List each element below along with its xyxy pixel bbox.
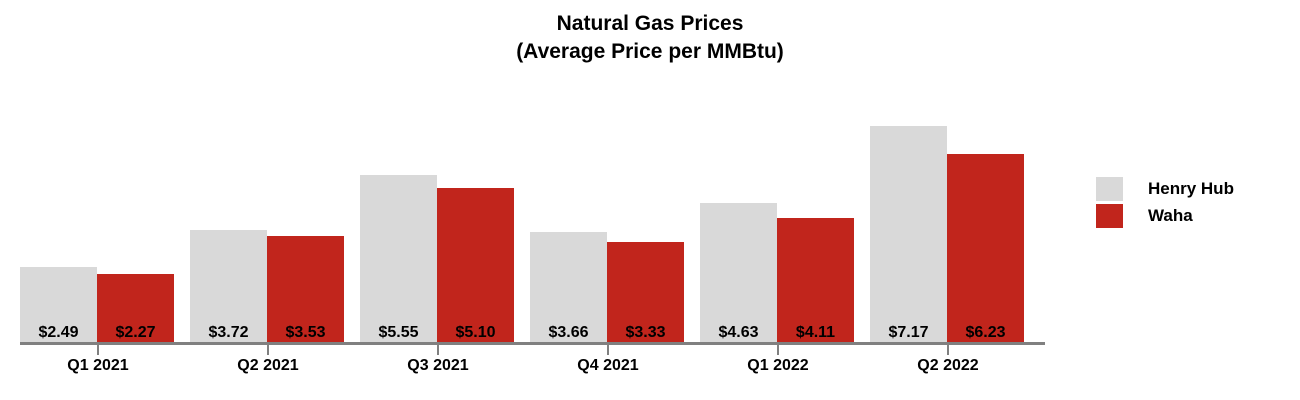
bar-group: $2.49 $2.27 <box>20 95 190 342</box>
tick-cell <box>700 345 870 357</box>
bar-value-label: $3.53 <box>255 324 356 342</box>
bar-value-label: $3.33 <box>595 324 696 342</box>
tick-mark <box>97 345 99 355</box>
tick-mark <box>947 345 949 355</box>
bar-group: $4.63 $4.11 <box>700 95 870 342</box>
tick-cell <box>530 345 700 357</box>
bar-wrap-henry-hub: $7.17 <box>870 95 947 342</box>
legend-swatch-icon <box>1096 204 1123 228</box>
category-label: Q1 2022 <box>747 357 808 375</box>
bar-value-label: $5.10 <box>425 324 526 342</box>
tick-mark <box>607 345 609 355</box>
axis-ticks <box>20 345 1040 357</box>
category-cell: Q2 2021 <box>190 357 360 381</box>
category-label: Q1 2021 <box>67 357 128 375</box>
bar-value-label: $4.11 <box>765 324 866 342</box>
bar-chart: Natural Gas Prices (Average Price per MM… <box>0 0 1300 400</box>
category-cell: Q2 2022 <box>870 357 1040 381</box>
bar-wrap-henry-hub: $3.66 <box>530 95 607 342</box>
bar-group: $7.17 $6.23 <box>870 95 1040 342</box>
bar-wrap-henry-hub: $5.55 <box>360 95 437 342</box>
bar-group: $5.55 $5.10 <box>360 95 530 342</box>
tick-cell <box>20 345 190 357</box>
bar-wrap-henry-hub: $2.49 <box>20 95 97 342</box>
bar-wrap-waha: $4.11 <box>777 95 854 342</box>
bar-henry-hub[interactable] <box>700 203 777 342</box>
legend-item-henry-hub[interactable]: Henry Hub <box>1096 175 1296 202</box>
bar-wrap-henry-hub: $4.63 <box>700 95 777 342</box>
bar-waha[interactable] <box>437 188 514 342</box>
chart-legend: Henry Hub Waha <box>1096 175 1296 229</box>
bar-wrap-waha: $2.27 <box>97 95 174 342</box>
tick-mark <box>777 345 779 355</box>
legend-swatch-icon <box>1096 177 1123 201</box>
category-label: Q4 2021 <box>577 357 638 375</box>
plot-area: $2.49 $2.27 $3.72 $3.53 <box>20 95 1040 345</box>
bar-groups: $2.49 $2.27 $3.72 $3.53 <box>20 95 1040 342</box>
category-cell: Q1 2022 <box>700 357 870 381</box>
legend-label: Henry Hub <box>1148 179 1234 199</box>
bar-waha[interactable] <box>947 154 1024 342</box>
bar-wrap-waha: $3.53 <box>267 95 344 342</box>
legend-item-waha[interactable]: Waha <box>1096 202 1296 229</box>
legend-label: Waha <box>1148 206 1193 226</box>
chart-title-line1: Natural Gas Prices <box>557 12 744 35</box>
category-label: Q3 2021 <box>407 357 468 375</box>
category-cell: Q4 2021 <box>530 357 700 381</box>
category-labels: Q1 2021 Q2 2021 Q3 2021 Q4 2021 Q1 2022 … <box>20 357 1040 381</box>
bar-wrap-waha: $6.23 <box>947 95 1024 342</box>
bar-wrap-henry-hub: $3.72 <box>190 95 267 342</box>
category-cell: Q1 2021 <box>20 357 190 381</box>
category-cell: Q3 2021 <box>360 357 530 381</box>
bar-wrap-waha: $5.10 <box>437 95 514 342</box>
bar-value-label: $6.23 <box>935 324 1036 342</box>
bar-group: $3.66 $3.33 <box>530 95 700 342</box>
bar-group: $3.72 $3.53 <box>190 95 360 342</box>
category-label: Q2 2021 <box>237 357 298 375</box>
tick-cell <box>360 345 530 357</box>
bar-value-label: $2.27 <box>85 324 186 342</box>
chart-title: Natural Gas Prices (Average Price per MM… <box>0 10 1300 66</box>
chart-title-line2: (Average Price per MMBtu) <box>0 38 1300 66</box>
tick-mark <box>267 345 269 355</box>
bar-henry-hub[interactable] <box>360 175 437 342</box>
tick-mark <box>437 345 439 355</box>
tick-cell <box>870 345 1040 357</box>
category-label: Q2 2022 <box>917 357 978 375</box>
bar-wrap-waha: $3.33 <box>607 95 684 342</box>
bar-henry-hub[interactable] <box>870 126 947 342</box>
tick-cell <box>190 345 360 357</box>
